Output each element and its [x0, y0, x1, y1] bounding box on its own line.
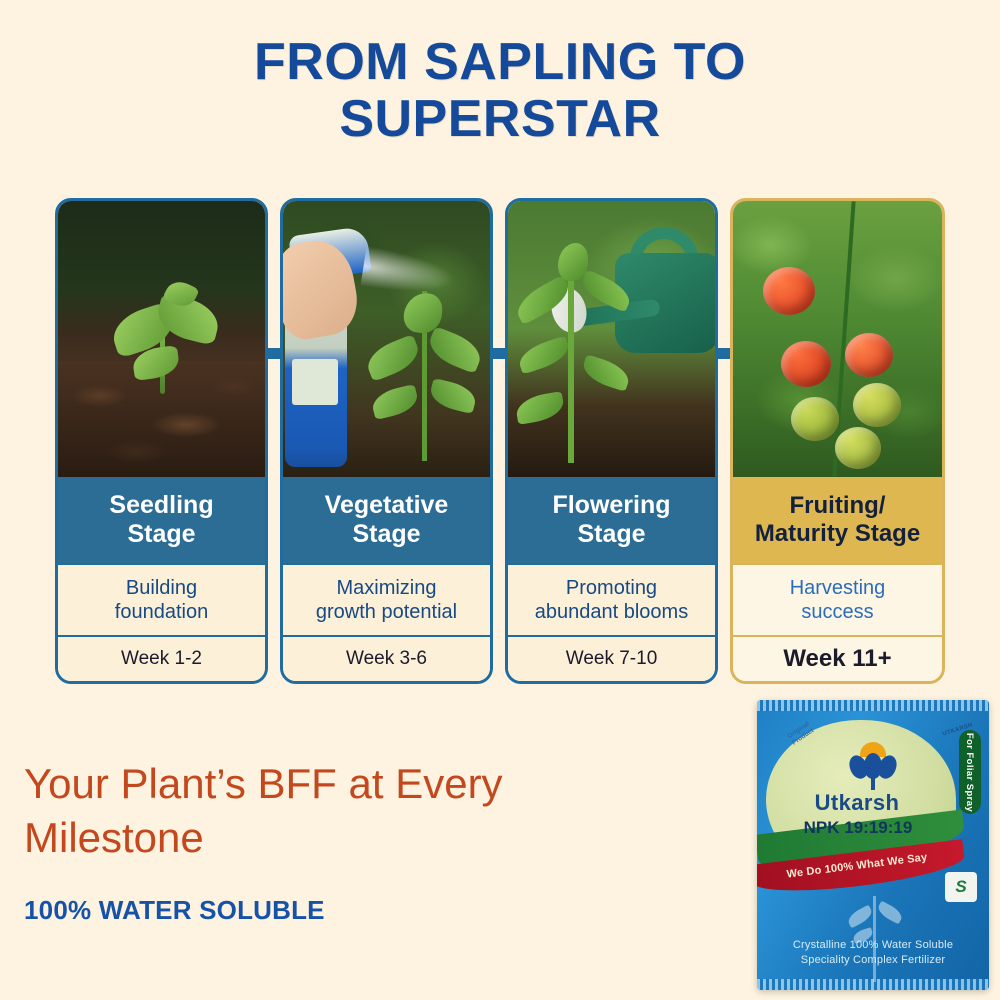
stage-title-line-1: Fruiting/ — [790, 492, 886, 519]
packet-desc-line-2: Speciality Complex Fertilizer — [757, 953, 989, 968]
stage-desc-line-1: Building — [126, 577, 197, 599]
leaf-icon — [424, 326, 485, 374]
stage-desc-line-2: growth potential — [316, 601, 457, 623]
stage-card-fruiting[interactable]: Fruiting/ Maturity Stage Harvesting succ… — [730, 198, 945, 684]
tomato-icon — [845, 333, 893, 377]
stage-desc-line-1: Harvesting — [790, 577, 886, 599]
flower-logo-icon — [849, 740, 897, 788]
leaf-icon — [516, 336, 573, 375]
leaf-icon — [370, 384, 421, 420]
stage-desc-line-2: foundation — [115, 601, 208, 623]
plant-graphic — [364, 291, 484, 461]
stage-desc-line-1: Promoting — [566, 577, 657, 599]
stage-description-fruiting: Harvesting success — [733, 563, 942, 637]
packet-foliar-spray-tab: For Foliar Spray — [959, 730, 981, 814]
packet-npk-ratio: NPK 19:19:19 — [757, 818, 959, 838]
leaf-icon — [514, 391, 566, 425]
tagline: Your Plant’s BFF at Every Milestone — [24, 757, 684, 865]
certification-badge-icon: S — [945, 872, 977, 902]
stage-title-seedling: Seedling Stage — [58, 477, 265, 563]
packet-brand-name: Utkarsh — [757, 790, 957, 816]
page-title-line-2: SUPERSTAR — [0, 91, 1000, 148]
plant-stem — [568, 263, 574, 463]
packet-crimp-top — [757, 700, 989, 711]
tomatoes-on-vine-photo — [733, 201, 942, 477]
stage-description-vegetative: Maximizing growth potential — [283, 563, 490, 637]
growth-stage-track: Seedling Stage Building foundation Week … — [55, 198, 945, 684]
leaf-icon — [875, 901, 904, 925]
leaf-icon — [362, 334, 423, 382]
stage-card-vegetative[interactable]: Vegetative Stage Maximizing growth poten… — [280, 198, 493, 684]
stage-title-line-2: Stage — [352, 520, 420, 548]
water-soluble-claim: 100% WATER SOLUBLE — [24, 895, 325, 926]
tagline-line-1: Your Plant’s BFF at Every — [24, 757, 684, 811]
stage-card-flowering[interactable]: Flowering Stage Promoting abundant bloom… — [505, 198, 718, 684]
plant-graphic — [522, 263, 630, 463]
stage-title-line-1: Vegetative — [325, 491, 449, 519]
stage-card-seedling[interactable]: Seedling Stage Building foundation Week … — [55, 198, 268, 684]
leaf-icon — [558, 243, 588, 281]
tomato-icon — [763, 267, 815, 315]
page-title-line-1: FROM SAPLING TO — [0, 34, 1000, 91]
leaf-icon — [577, 269, 634, 312]
stage-title-line-2: Maturity Stage — [755, 520, 920, 547]
foliar-tab-label: For Foliar Spray — [965, 732, 976, 811]
stage-title-fruiting: Fruiting/ Maturity Stage — [733, 477, 942, 563]
stage-title-line-2: Stage — [127, 520, 195, 548]
spray-bottle-on-plant-photo — [283, 201, 490, 477]
seedling-in-soil-photo — [58, 201, 265, 477]
packet-description: Crystalline 100% Water Soluble Specialit… — [757, 938, 989, 968]
stage-title-flowering: Flowering Stage — [508, 477, 715, 563]
stage-desc-line-2: success — [801, 601, 873, 623]
tagline-line-2: Milestone — [24, 811, 684, 865]
stage-week-vegetative: Week 3-6 — [283, 637, 490, 681]
tomato-icon — [781, 341, 831, 387]
leaf-icon — [579, 354, 632, 392]
stage-title-line-2: Stage — [577, 520, 645, 548]
bottle-label — [292, 359, 338, 405]
packet-desc-line-1: Crystalline 100% Water Soluble — [757, 938, 989, 953]
stage-title-vegetative: Vegetative Stage — [283, 477, 490, 563]
stage-desc-line-2: abundant blooms — [535, 601, 688, 623]
tomato-icon — [835, 427, 881, 469]
tomato-icon — [853, 383, 901, 427]
tomato-icon — [791, 397, 839, 441]
stage-week-fruiting: Week 11+ — [733, 637, 942, 681]
stage-week-seedling: Week 1-2 — [58, 637, 265, 681]
leaf-icon — [428, 378, 479, 414]
watering-can-on-plant-photo — [508, 201, 715, 477]
leaf-icon — [845, 905, 874, 929]
stalk-shape — [871, 774, 875, 790]
stage-title-line-1: Seedling — [109, 491, 213, 519]
stage-description-seedling: Building foundation — [58, 563, 265, 637]
stage-week-flowering: Week 7-10 — [508, 637, 715, 681]
stage-desc-line-1: Maximizing — [336, 577, 436, 599]
stage-description-flowering: Promoting abundant blooms — [508, 563, 715, 637]
stage-title-line-1: Flowering — [552, 491, 670, 519]
product-packet-image[interactable]: Original Product UTKARSH Utkarsh NPK 19:… — [757, 700, 989, 990]
page-title: FROM SAPLING TO SUPERSTAR — [0, 34, 1000, 148]
